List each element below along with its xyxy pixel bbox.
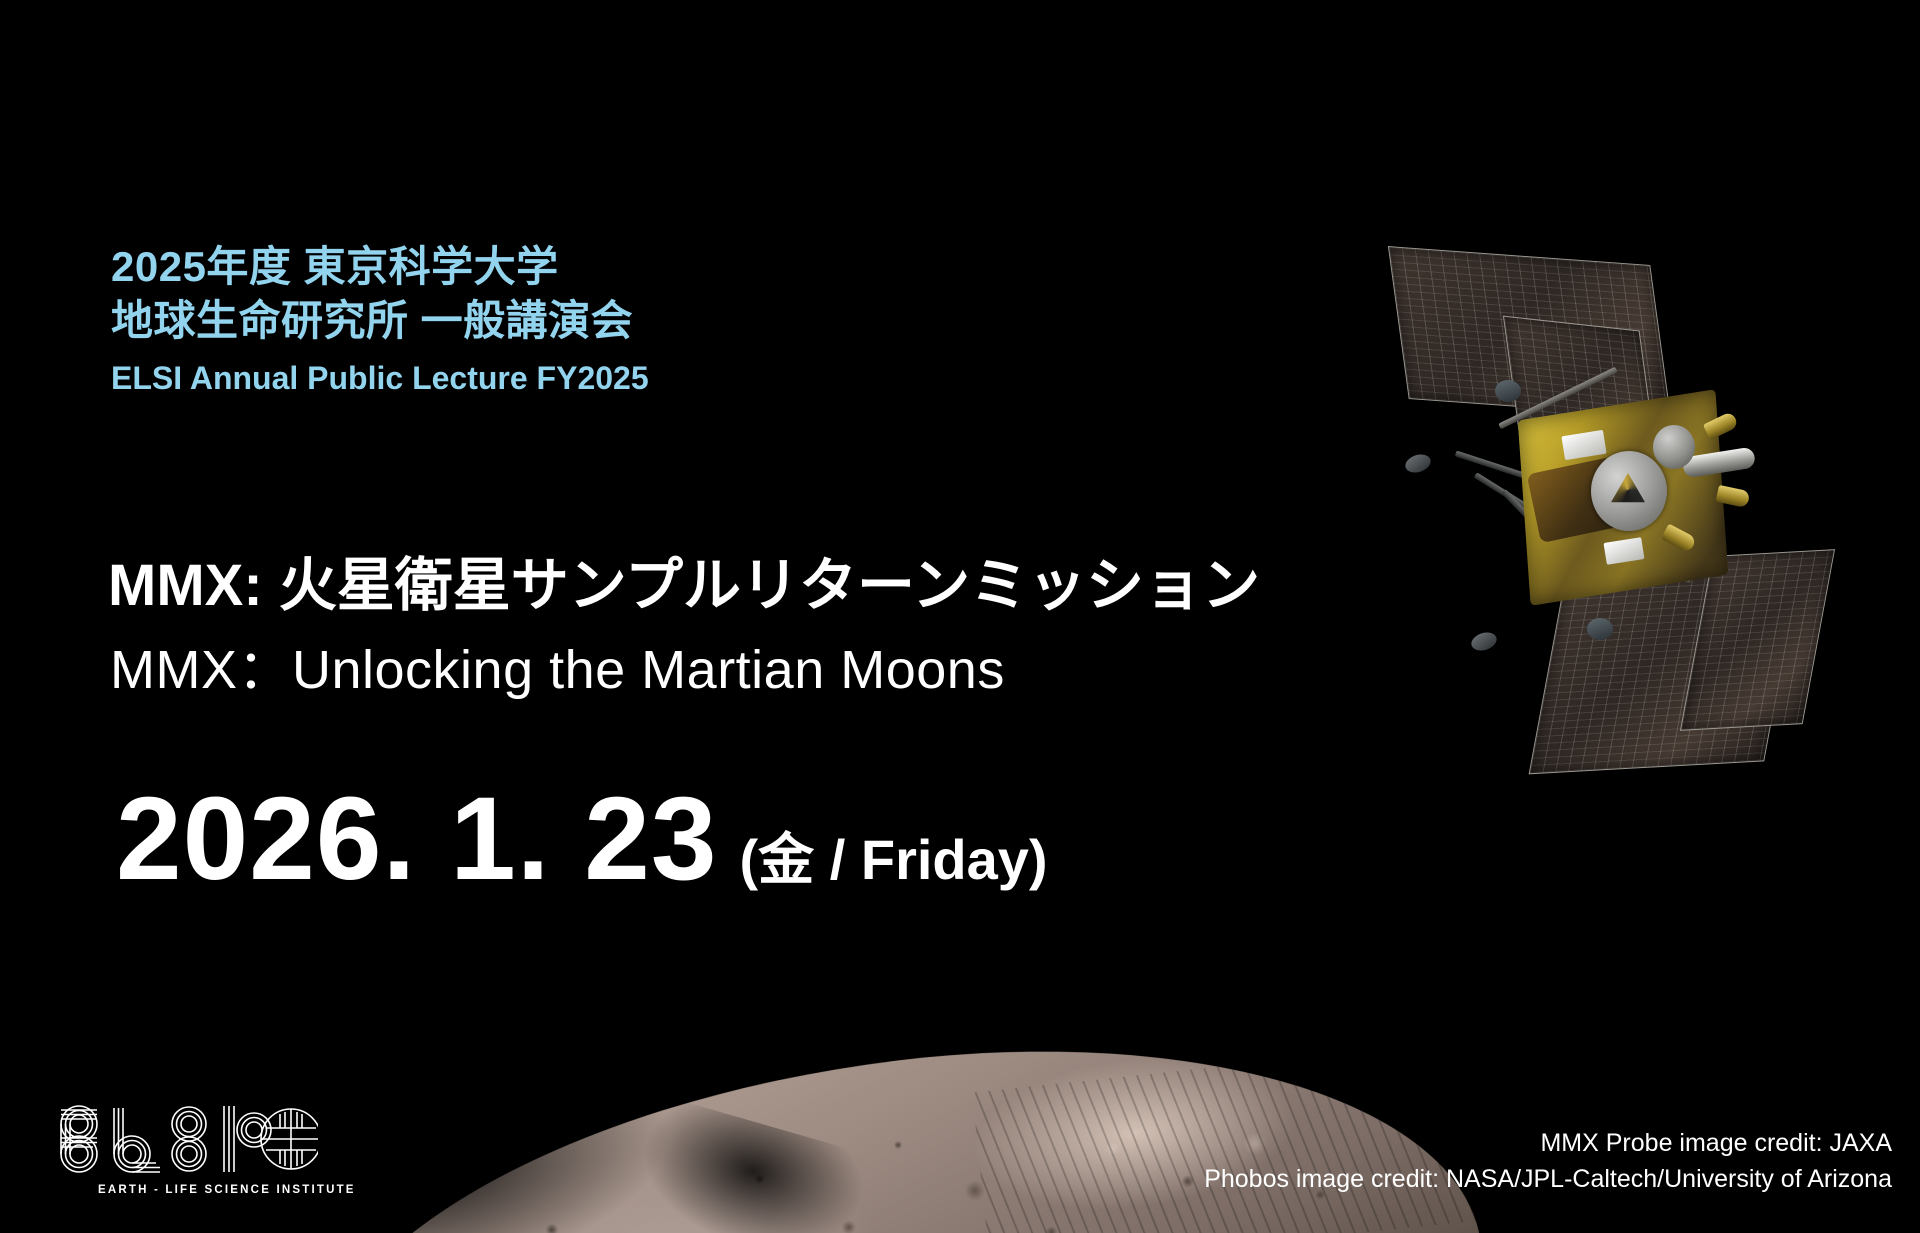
credit-line-phobos: Phobos image credit: NASA/JPL-Caltech/Un… <box>1204 1162 1892 1198</box>
event-series-en-line: ELSI Annual Public Lecture FY2025 <box>111 362 649 394</box>
image-credits: MMX Probe image credit: JAXA Phobos imag… <box>1204 1126 1892 1197</box>
landing-pad-1 <box>1403 451 1433 475</box>
phobos-crater-shadow <box>628 1095 873 1233</box>
landing-pad-2 <box>1469 629 1499 653</box>
elsi-logo: EARTH - LIFE SCIENCE INSTITUTE <box>48 1098 318 1208</box>
event-series-jp-line2: 地球生命研究所 一般講演会 <box>111 300 633 342</box>
event-date-weekday: (金 / Friday) <box>740 832 1048 888</box>
elsi-wordmark-icon <box>48 1098 318 1182</box>
credit-line-probe: MMX Probe image credit: JAXA <box>1204 1126 1892 1162</box>
high-gain-antenna <box>1591 451 1667 531</box>
mmx-spacecraft-illustration <box>1395 255 1920 825</box>
medium-gain-antenna <box>1653 425 1695 469</box>
elsi-logo-tagline: EARTH - LIFE SCIENCE INSTITUTE <box>98 1184 356 1196</box>
panel-hinge-upper <box>1495 380 1521 402</box>
event-series-jp-line1: 2025年度 東京科学大学 <box>111 246 559 288</box>
lecture-title-en: MMX：Unlocking the Martian Moons <box>110 625 1005 704</box>
panel-hinge-lower <box>1587 618 1613 640</box>
poster-canvas: 2025年度 東京科学大学 地球生命研究所 一般講演会 ELSI Annual … <box>0 0 1920 1233</box>
event-date-number: 2026. 1. 23 <box>116 780 718 898</box>
phobos-body <box>279 1003 1501 1233</box>
lecture-title-jp: MMX: 火星衛星サンプルリターンミッション <box>108 538 1260 622</box>
event-date: 2026. 1. 23 (金 / Friday) <box>116 780 1048 898</box>
